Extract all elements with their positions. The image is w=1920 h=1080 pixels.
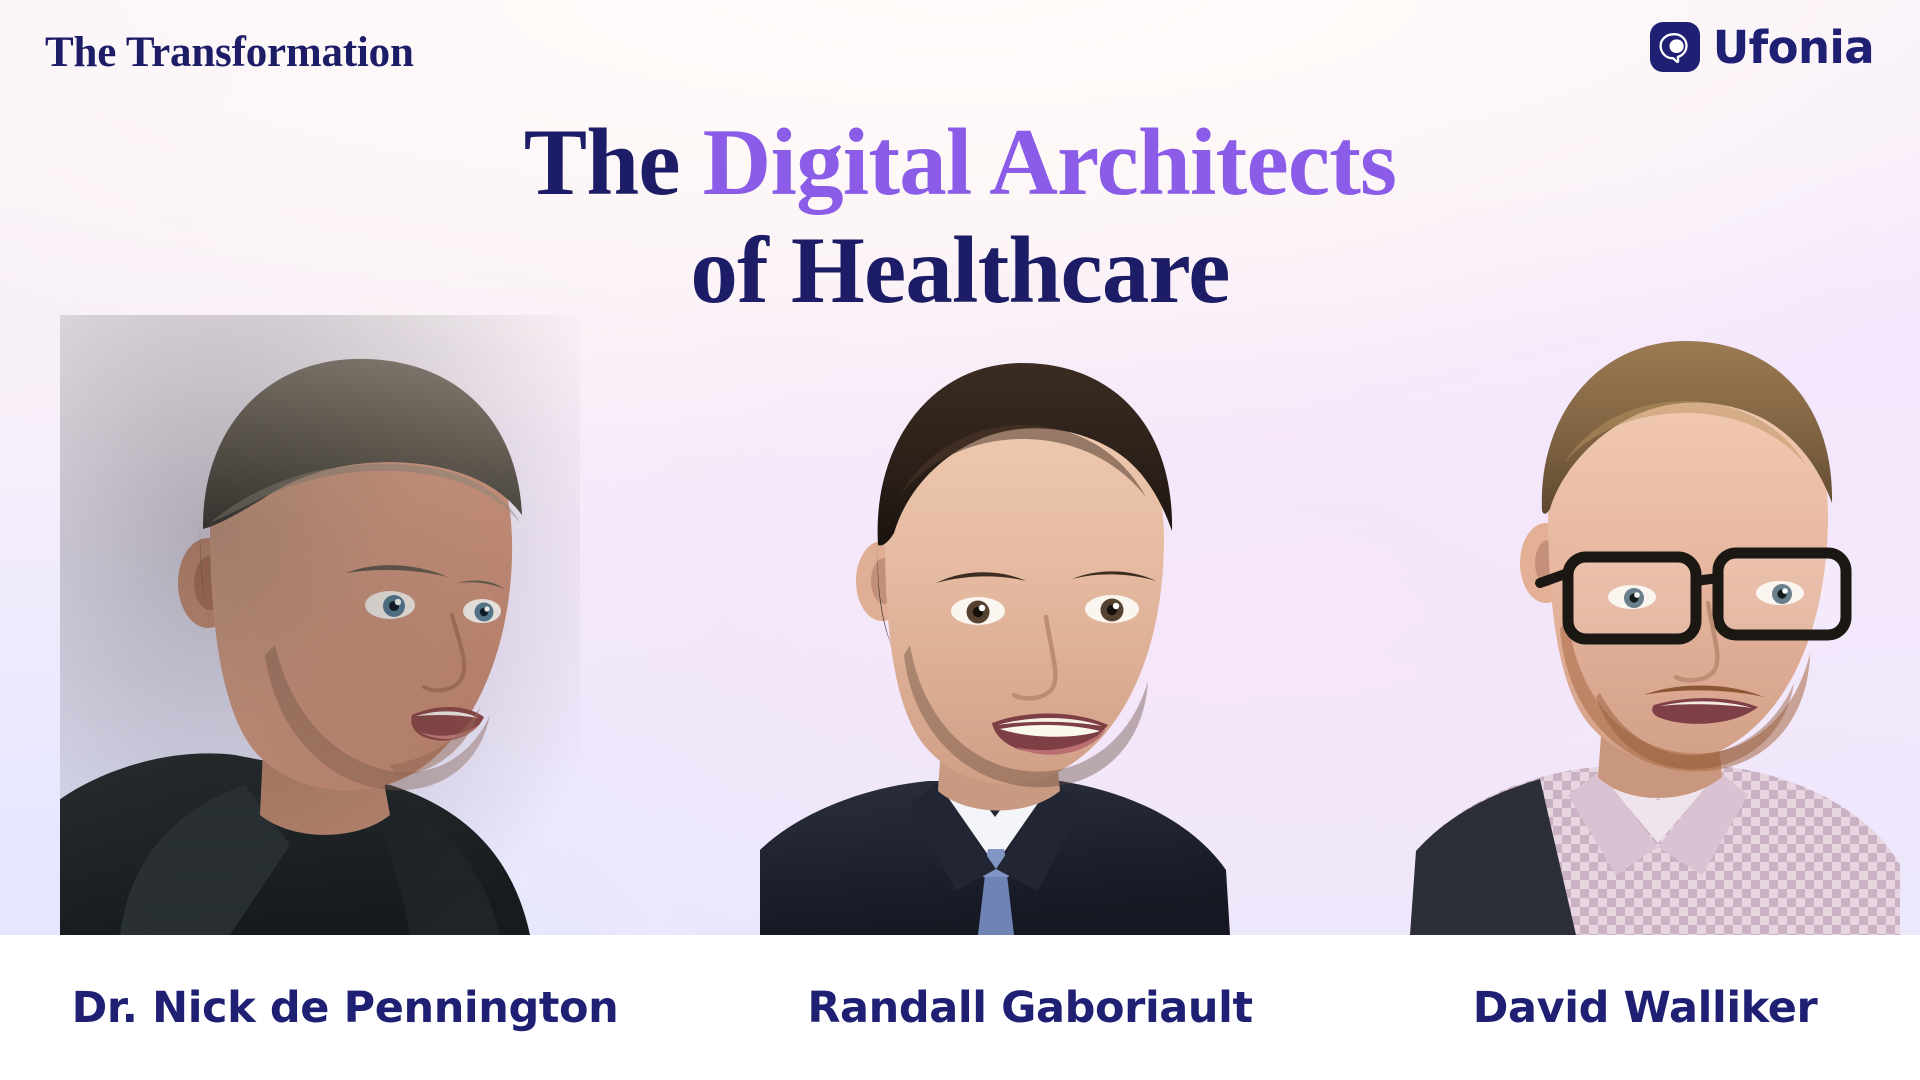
speaker-name-1: Dr. Nick de Pennington [0, 983, 690, 1033]
portrait-speaker-2 [760, 325, 1230, 935]
speaker-portraits [0, 0, 1920, 935]
portrait-speaker-3 [1400, 295, 1900, 935]
portrait-speaker-1 [60, 315, 580, 935]
promo-graphic: The Transformation Ufonia The Digital Ar… [0, 0, 1920, 1080]
speaker-name-2: Randall Gaboriault [690, 983, 1370, 1033]
speaker-name-bar: Dr. Nick de Pennington Randall Gaboriaul… [0, 935, 1920, 1080]
speaker-name-3: David Walliker [1370, 983, 1920, 1033]
